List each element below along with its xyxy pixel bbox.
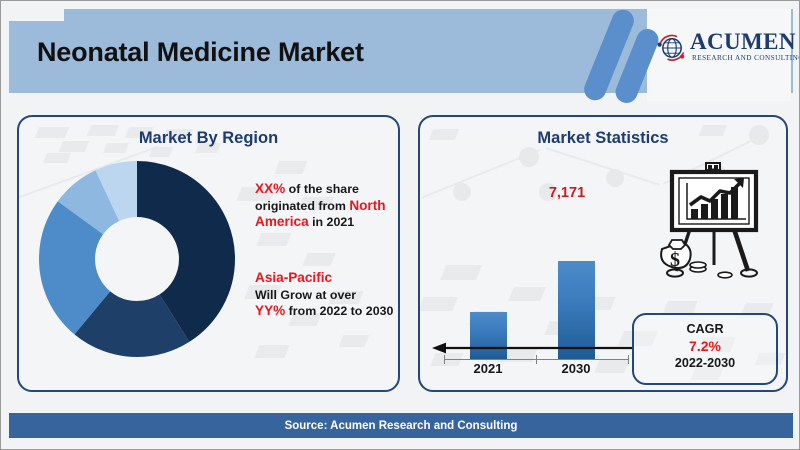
header-notch bbox=[9, 9, 64, 21]
apac-region-name: Asia-Pacific bbox=[255, 270, 332, 285]
logo-tagline: RESEARCH AND CONSULTING bbox=[692, 54, 800, 62]
source-footer-bar: Source: Acumen Research and Consulting bbox=[9, 413, 793, 438]
axis-tick-end bbox=[628, 355, 629, 364]
source-text: Source: Acumen Research and Consulting bbox=[285, 420, 518, 432]
globe-icon bbox=[656, 32, 688, 64]
cagr-period: 2022-2030 bbox=[634, 356, 776, 370]
bar-label-2030: 2030 bbox=[546, 361, 606, 376]
right-panel-title: Market Statistics bbox=[420, 129, 786, 148]
page-title: Neonatal Medicine Market bbox=[37, 37, 364, 68]
market-by-region-panel: Market By Region XX% of the share origin… bbox=[17, 115, 400, 392]
money-bag-icon: $ bbox=[661, 240, 691, 271]
region-donut-chart bbox=[37, 159, 237, 359]
north-america-callout: XX% of the share originated from North A… bbox=[255, 181, 393, 231]
apac-text-1: Will Grow at over bbox=[255, 288, 356, 302]
apac-text-2: from 2022 to 2030 bbox=[285, 304, 393, 318]
market-statistics-panel: Market Statistics 7,171 2021 2030 bbox=[418, 115, 788, 392]
left-arrow-icon bbox=[432, 342, 634, 354]
asia-pacific-callout: Asia-Pacific Will Grow at over YY% from … bbox=[255, 270, 397, 320]
market-bar-chart: 2021 2030 bbox=[430, 169, 640, 359]
apac-growth-value: YY% bbox=[255, 303, 285, 318]
na-share-value: XX% bbox=[255, 181, 285, 196]
left-panel-title: Market By Region bbox=[19, 129, 398, 148]
bar-label-2021: 2021 bbox=[458, 361, 518, 376]
presentation-easel-chart-icon: $ bbox=[656, 153, 774, 281]
cagr-value: 7.2% bbox=[634, 338, 776, 354]
svg-text:$: $ bbox=[670, 249, 680, 271]
logo-wordmark: ACUMEN bbox=[690, 30, 796, 53]
acumen-logo: ACUMEN RESEARCH AND CONSULTING bbox=[656, 28, 788, 74]
na-share-text-2: in 2021 bbox=[309, 215, 354, 229]
cagr-label: CAGR bbox=[634, 322, 776, 336]
donut-chart-svg bbox=[37, 159, 237, 359]
cagr-callout-box: CAGR 7.2% 2022-2030 bbox=[632, 313, 778, 385]
axis-tick-start bbox=[444, 355, 445, 364]
infographic-canvas: Neonatal Medicine Market ACUMEN RESEARCH… bbox=[0, 0, 800, 450]
axis-tick-mid bbox=[536, 355, 537, 364]
